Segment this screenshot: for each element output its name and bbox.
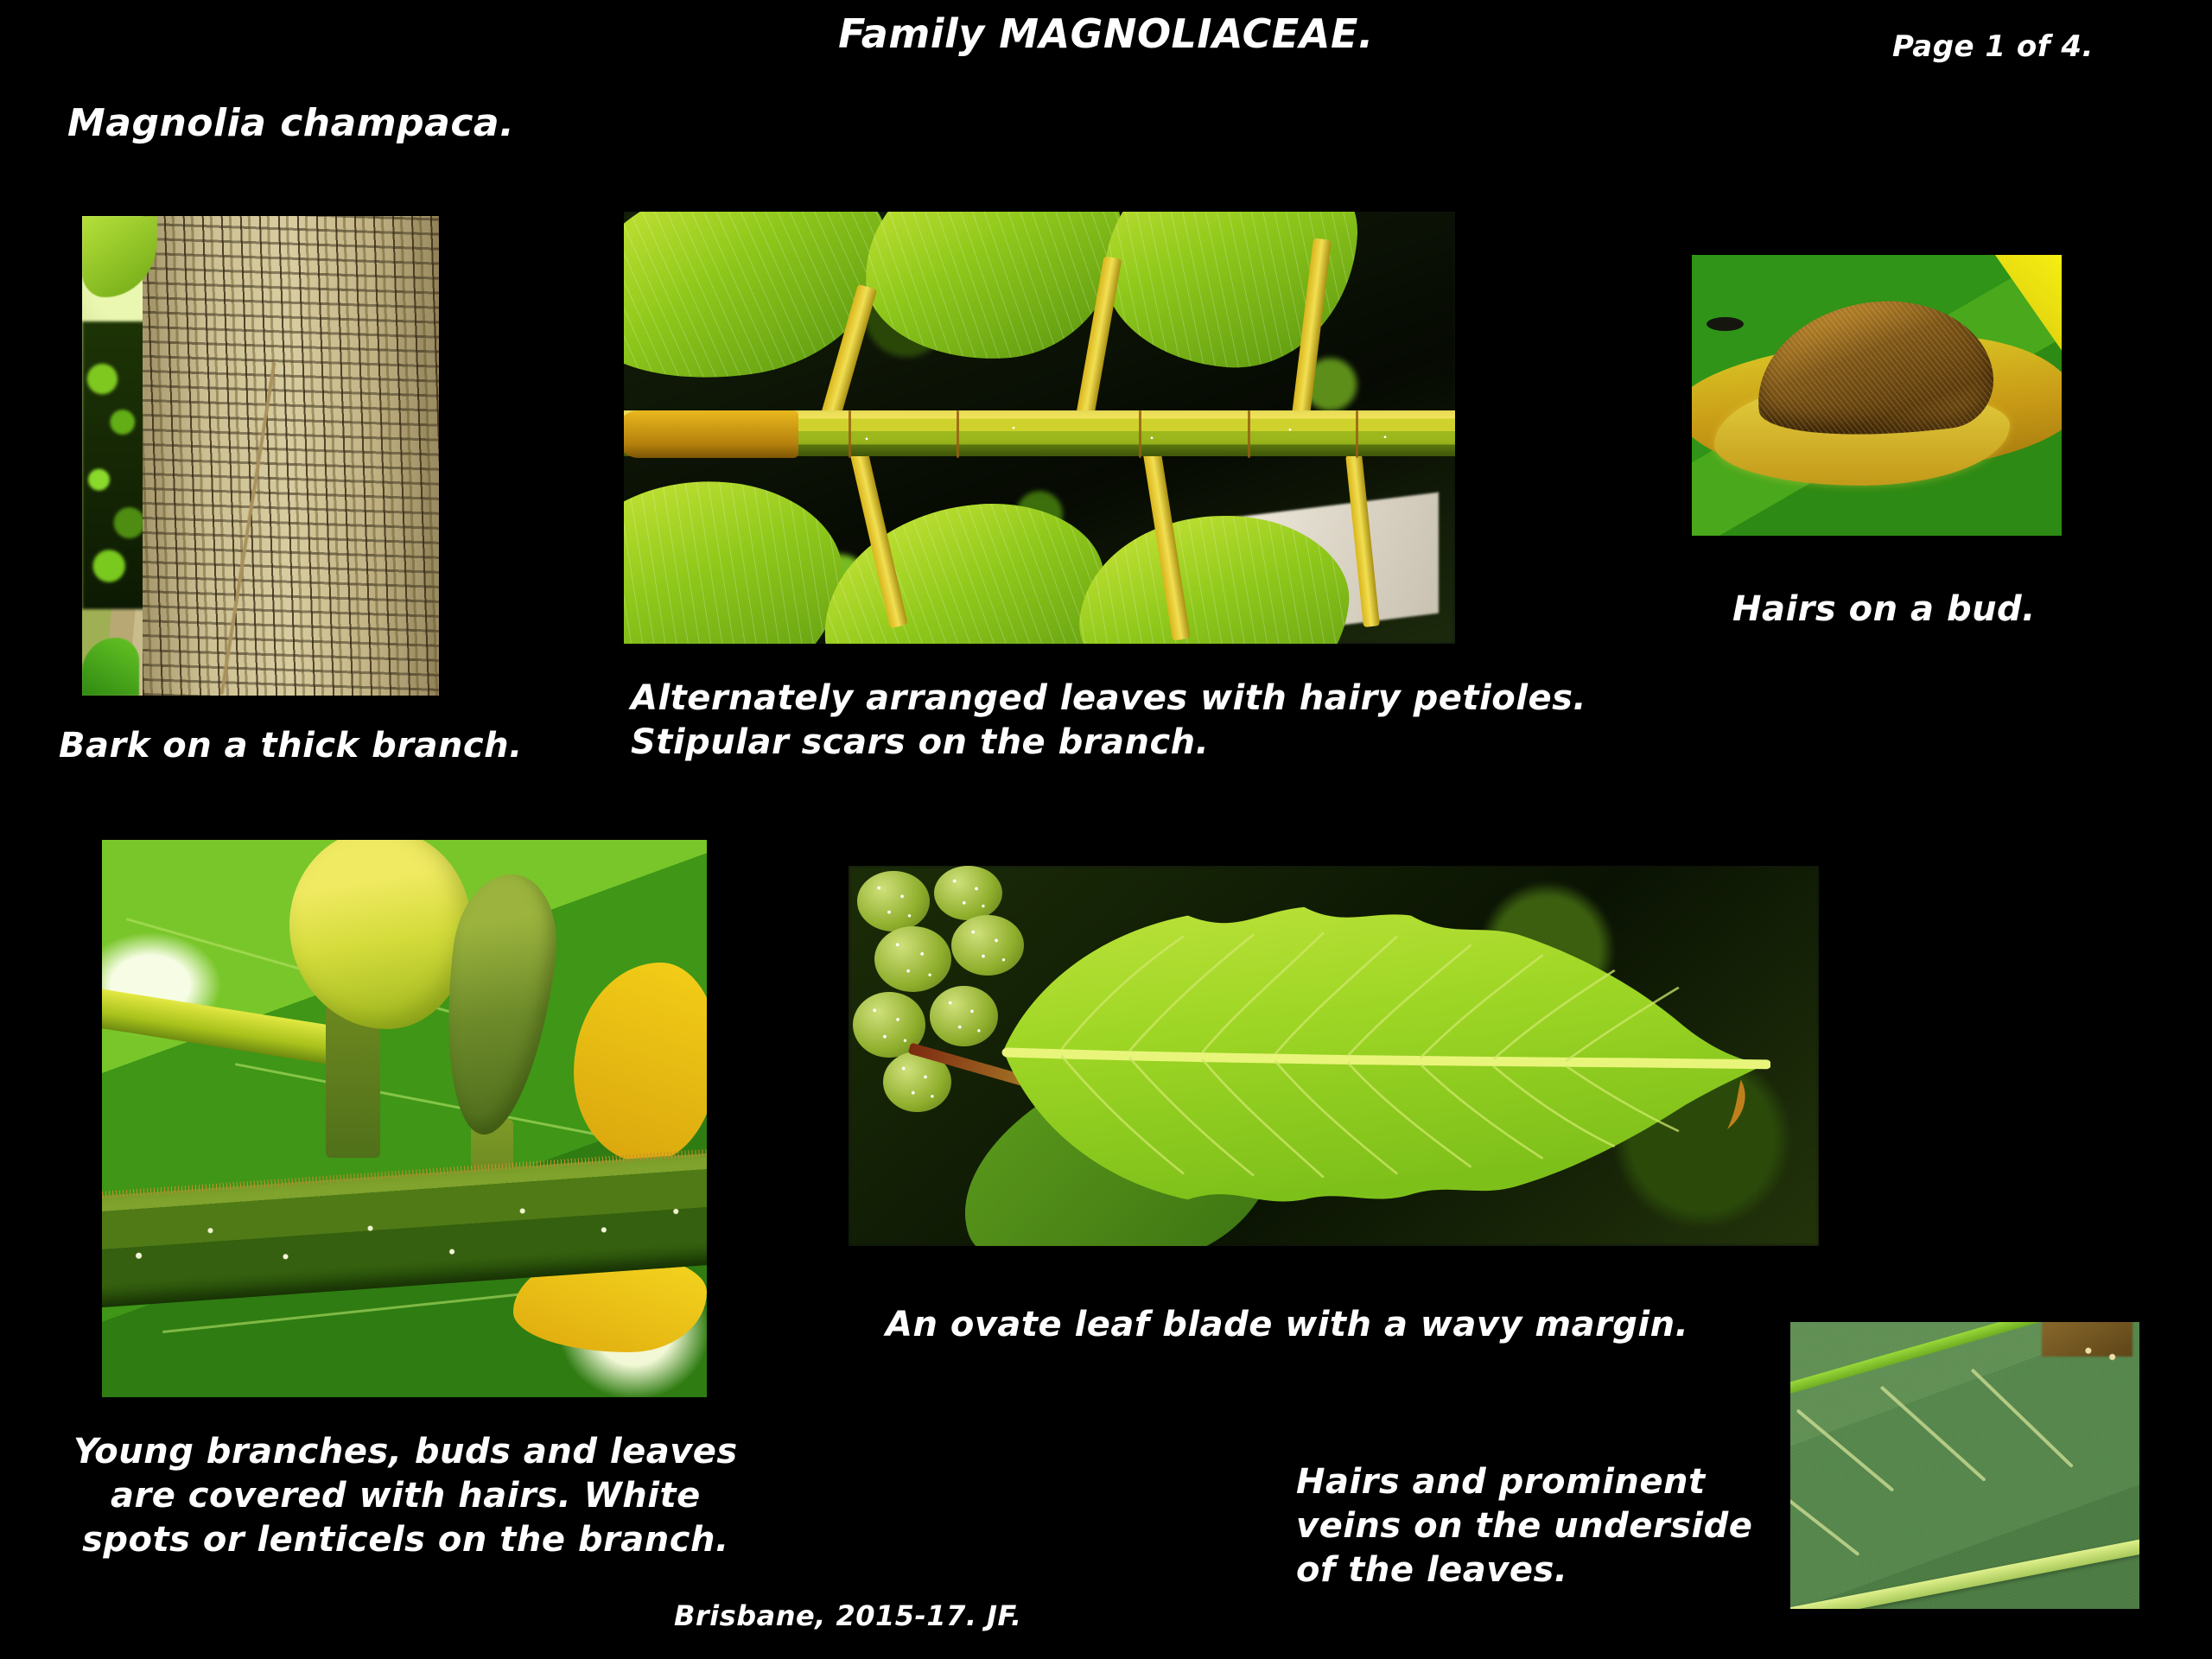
leaf-underside-photo (1790, 1322, 2139, 1609)
leaf-blade-svg (994, 881, 1770, 1224)
fruit (934, 866, 1002, 920)
page-title: Family MAGNOLIACEAE. (0, 9, 2212, 60)
young-branch-caption: Young branches, buds and leaves are cove… (73, 1430, 738, 1563)
bark-photo (82, 216, 439, 696)
credit-line: Brisbane, 2015-17. JF. (674, 1599, 1022, 1634)
stipular-scar-1 (849, 410, 851, 458)
background-pale-dots (2069, 1339, 2133, 1368)
bud-caption: Hairs on a bud. (1732, 588, 2036, 632)
bark-trunk-texture (143, 216, 439, 696)
leaf-tip-damage (1727, 1079, 1745, 1128)
young-branch-buds-photo (102, 840, 707, 1397)
species-name: Magnolia champaca. (67, 99, 514, 148)
bark-caption: Bark on a thick branch. (59, 724, 523, 768)
stipular-scar-5 (1356, 410, 1358, 458)
branch-leaves-photo (624, 212, 1455, 644)
ovate-leaf-blade (994, 881, 1770, 1224)
fruit (857, 871, 930, 931)
fruit (874, 926, 951, 992)
branch-caption: Alternately arranged leaves with hairy p… (631, 677, 1586, 765)
bark-shrub-foliage (82, 321, 149, 609)
stipular-scar-3 (1139, 410, 1141, 458)
branch-tip-left (624, 410, 798, 458)
stipular-scar-4 (1248, 410, 1250, 458)
ovate-leaf-photo (849, 866, 1819, 1246)
page-number: Page 1 of 4. (1892, 29, 2094, 67)
ovate-leaf-caption: An ovate leaf blade with a wavy margin. (886, 1303, 1688, 1347)
ant-icon (1707, 317, 1744, 331)
hairy-bud-photo (1692, 255, 2062, 536)
stipular-scar-2 (957, 410, 959, 458)
fruit (930, 986, 998, 1046)
leaf-underside-caption: Hairs and prominent veins on the undersi… (1296, 1460, 1752, 1593)
